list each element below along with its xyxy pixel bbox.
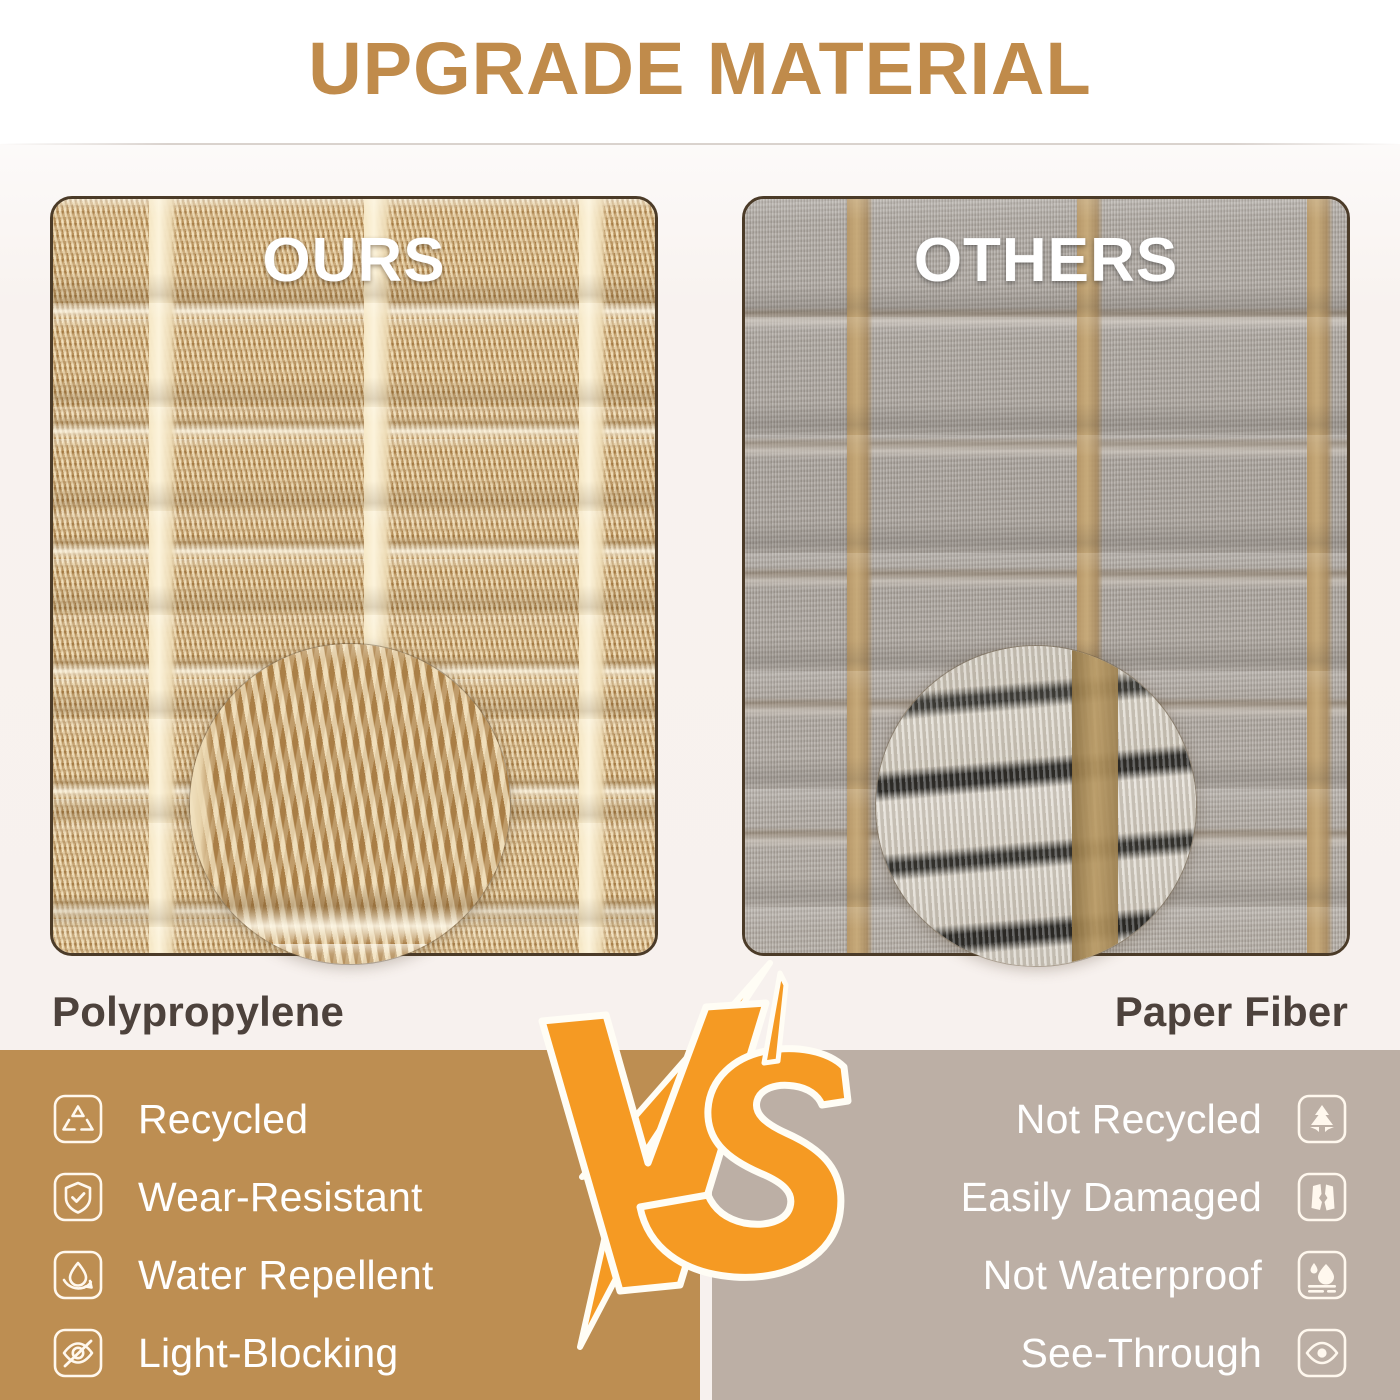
- feature-list-ours: Recycled Wear-Resistant: [0, 1050, 700, 1400]
- feature-label: Not Recycled: [1016, 1096, 1262, 1143]
- material-name-right: Paper Fiber: [1115, 988, 1348, 1036]
- feature-row: Water Repellent: [52, 1236, 700, 1314]
- magnifier-ours: [189, 643, 511, 965]
- magnifier-others: [875, 645, 1197, 967]
- feature-label: Water Repellent: [138, 1252, 433, 1299]
- eye-icon: [1296, 1327, 1348, 1379]
- shield-check-icon: [52, 1171, 104, 1223]
- feature-row: Not Waterproof: [712, 1236, 1348, 1314]
- magnified-rod: [1072, 646, 1118, 966]
- magnified-paper-fiber-detail: [876, 646, 1196, 966]
- feature-row: Light-Blocking: [52, 1314, 700, 1392]
- card-badge-others: OTHERS: [745, 225, 1347, 296]
- feature-row: Easily Damaged: [712, 1158, 1348, 1236]
- feature-label: See-Through: [1020, 1330, 1262, 1377]
- card-badge-ours: OURS: [53, 225, 655, 296]
- recycle-icon: [52, 1093, 104, 1145]
- magnified-polypropylene-detail: [189, 643, 511, 965]
- feature-label: Light-Blocking: [138, 1330, 398, 1377]
- torn-paper-icon: [1296, 1171, 1348, 1223]
- feature-list-others: Not Recycled Easily Damaged: [712, 1050, 1400, 1400]
- feature-row: Wear-Resistant: [52, 1158, 700, 1236]
- water-drop-repel-icon: [52, 1249, 104, 1301]
- feature-label: Wear-Resistant: [138, 1174, 423, 1221]
- page-title: UPGRADE MATERIAL: [0, 32, 1400, 106]
- footer-bar-gap: [700, 1050, 712, 1400]
- water-splash-icon: [1296, 1249, 1348, 1301]
- eye-slash-icon: [52, 1327, 104, 1379]
- infographic-page: UPGRADE MATERIAL OURS OTHERS Polypropyle…: [0, 0, 1400, 1400]
- tree-icon: [1296, 1093, 1348, 1145]
- feature-row: Recycled: [52, 1080, 700, 1158]
- material-name-left: Polypropylene: [52, 988, 344, 1036]
- feature-label: Easily Damaged: [961, 1174, 1262, 1221]
- feature-row: See-Through: [712, 1314, 1348, 1392]
- feature-row: Not Recycled: [712, 1080, 1348, 1158]
- header-divider: [0, 143, 1400, 145]
- feature-label: Not Waterproof: [983, 1252, 1262, 1299]
- feature-label: Recycled: [138, 1096, 308, 1143]
